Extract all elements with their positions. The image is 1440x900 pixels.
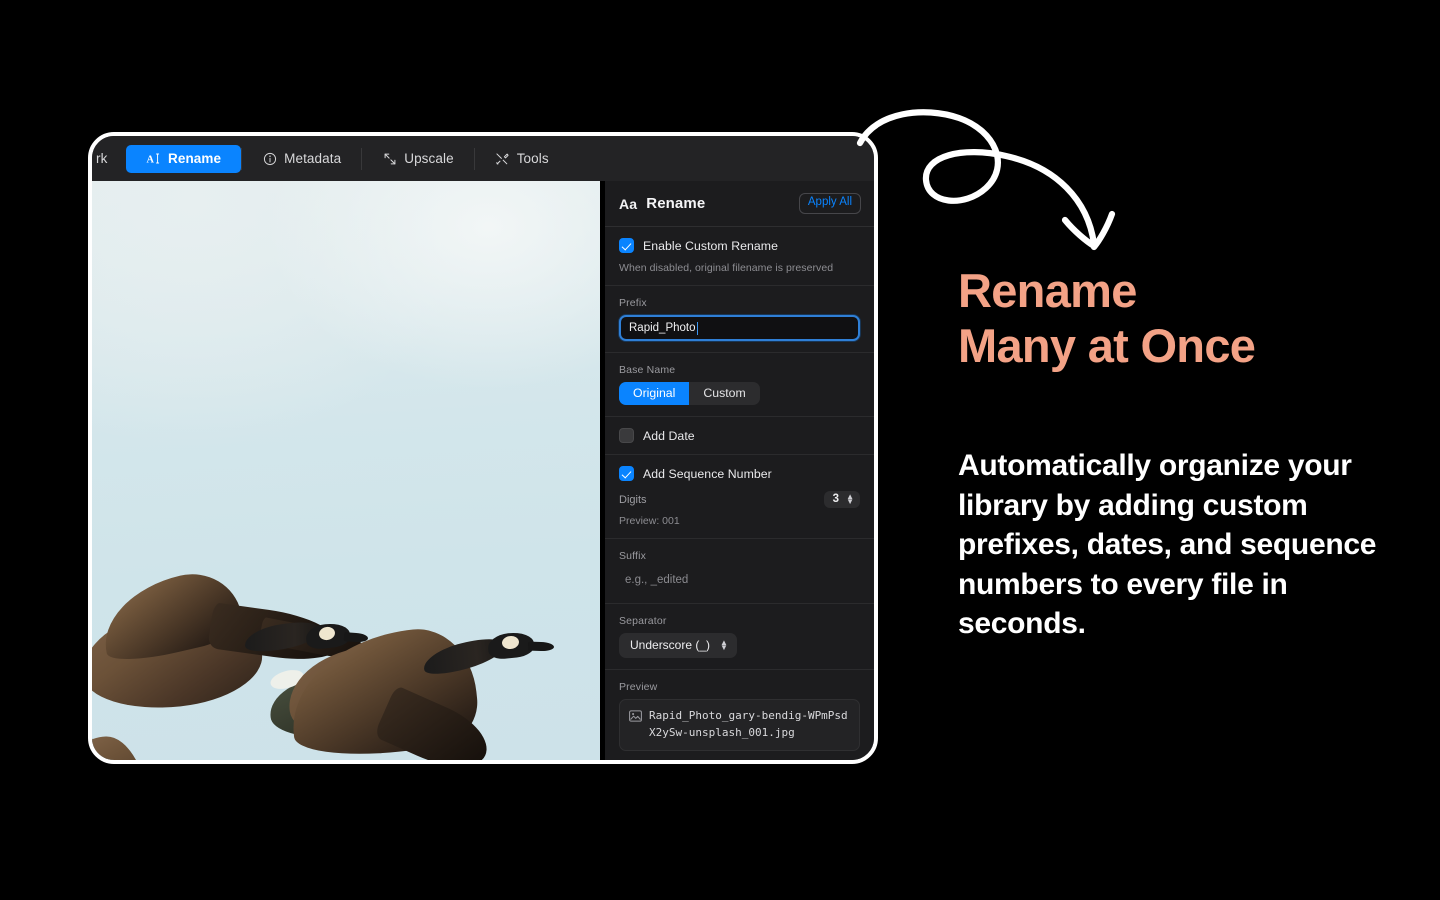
stepper-down-icon[interactable]: ▼ (846, 499, 854, 504)
tab-metadata[interactable]: Metadata (242, 145, 361, 173)
enable-custom-rename-row[interactable]: Enable Custom Rename (619, 238, 860, 253)
chevron-updown-icon: ▲ ▼ (720, 640, 728, 650)
add-date-checkbox[interactable] (619, 428, 634, 443)
panel-title: Rename (646, 195, 705, 212)
headline-line-1: Rename (958, 264, 1408, 319)
tab-tools-label: Tools (517, 151, 549, 166)
preview-section: Preview Rapid_Photo_gary-bendig-WPmPsdX2… (605, 670, 874, 760)
apply-all-button[interactable]: Apply All (799, 193, 861, 214)
panel-header: Aa Rename Apply All (605, 181, 874, 227)
prefix-value: Rapid_Photo (629, 322, 696, 334)
text-caret (697, 322, 698, 335)
enable-custom-rename-hint: When disabled, original filename is pres… (619, 262, 860, 274)
photo-preview-pane[interactable] (92, 181, 600, 760)
tab-tools[interactable]: Tools (475, 145, 569, 173)
suffix-label: Suffix (619, 550, 860, 562)
tab-rename[interactable]: A Rename (126, 145, 241, 173)
headline-line-2: Many at Once (958, 319, 1408, 374)
app-window: rk A Rename Metadata (88, 132, 878, 764)
separator-label: Separator (619, 615, 860, 627)
info-circle-icon (262, 151, 277, 166)
preview-filename-text: Rapid_Photo_gary-bendig-WPmPsdX2ySw-unsp… (649, 708, 850, 741)
marketing-body-text: Automatically organize your library by a… (958, 446, 1378, 644)
text-cursor-icon: A (146, 151, 161, 166)
diagonal-arrows-icon (382, 151, 397, 166)
rename-panel: Aa Rename Apply All Enable Custom Rename… (605, 181, 874, 760)
tab-upscale[interactable]: Upscale (362, 145, 473, 173)
digits-label: Digits (619, 494, 647, 506)
prefix-input[interactable]: Rapid_Photo (619, 315, 860, 341)
tab-upscale-label: Upscale (404, 151, 453, 166)
goose-photo (92, 181, 600, 760)
add-date-section: Add Date (605, 417, 874, 455)
base-name-segmented-control[interactable]: Original Custom (619, 382, 760, 405)
tab-watermark[interactable]: rk (92, 145, 126, 173)
digits-row: Digits 3 ▲ ▼ (619, 491, 860, 508)
add-date-row[interactable]: Add Date (619, 428, 860, 443)
image-file-icon (629, 709, 642, 727)
separator-section: Separator Underscore (_) ▲ ▼ (605, 604, 874, 670)
digits-value: 3 (833, 493, 839, 505)
separator-dropdown[interactable]: Underscore (_) ▲ ▼ (619, 633, 737, 658)
add-sequence-number-section: Add Sequence Number Digits 3 ▲ ▼ Preview… (605, 455, 874, 539)
sequence-preview-label: Preview: 001 (619, 515, 860, 527)
marketing-headline: Rename Many at Once (958, 264, 1408, 373)
suffix-section: Suffix e.g., _edited (605, 539, 874, 604)
preview-label: Preview (619, 681, 860, 693)
marketing-column: Rename Many at Once Automatically organi… (958, 0, 1418, 900)
base-name-option-original[interactable]: Original (619, 382, 689, 405)
preview-filename-box: Rapid_Photo_gary-bendig-WPmPsdX2ySw-unsp… (619, 699, 860, 751)
stepper-arrows-icon[interactable]: ▲ ▼ (846, 494, 854, 504)
base-name-section: Base Name Original Custom (605, 353, 874, 417)
enable-custom-rename-checkbox[interactable] (619, 238, 634, 253)
chevron-down-icon: ▼ (720, 645, 728, 650)
separator-selected-value: Underscore (_) (630, 638, 710, 652)
base-name-option-custom[interactable]: Custom (689, 382, 759, 405)
add-sequence-number-label: Add Sequence Number (643, 467, 772, 481)
base-name-label: Base Name (619, 364, 860, 376)
add-sequence-number-row[interactable]: Add Sequence Number (619, 466, 860, 481)
prefix-section: Prefix Rapid_Photo (605, 286, 874, 353)
add-sequence-number-checkbox[interactable] (619, 466, 634, 481)
tab-bar-filler (569, 136, 874, 181)
prefix-label: Prefix (619, 297, 860, 309)
tab-watermark-label: rk (96, 151, 107, 166)
window-body: Aa Rename Apply All Enable Custom Rename… (92, 181, 874, 760)
tab-rename-label: Rename (168, 151, 221, 166)
svg-text:A: A (146, 154, 154, 165)
digits-stepper[interactable]: 3 ▲ ▼ (824, 491, 860, 508)
tab-bar: rk A Rename Metadata (92, 136, 874, 181)
suffix-input[interactable]: e.g., _edited (619, 568, 860, 592)
aa-text-icon: Aa (619, 196, 637, 212)
add-date-label: Add Date (643, 429, 695, 443)
enable-custom-rename-section: Enable Custom Rename When disabled, orig… (605, 227, 874, 286)
tab-metadata-label: Metadata (284, 151, 341, 166)
wrench-screwdriver-icon (495, 151, 510, 166)
enable-custom-rename-label: Enable Custom Rename (643, 239, 778, 253)
